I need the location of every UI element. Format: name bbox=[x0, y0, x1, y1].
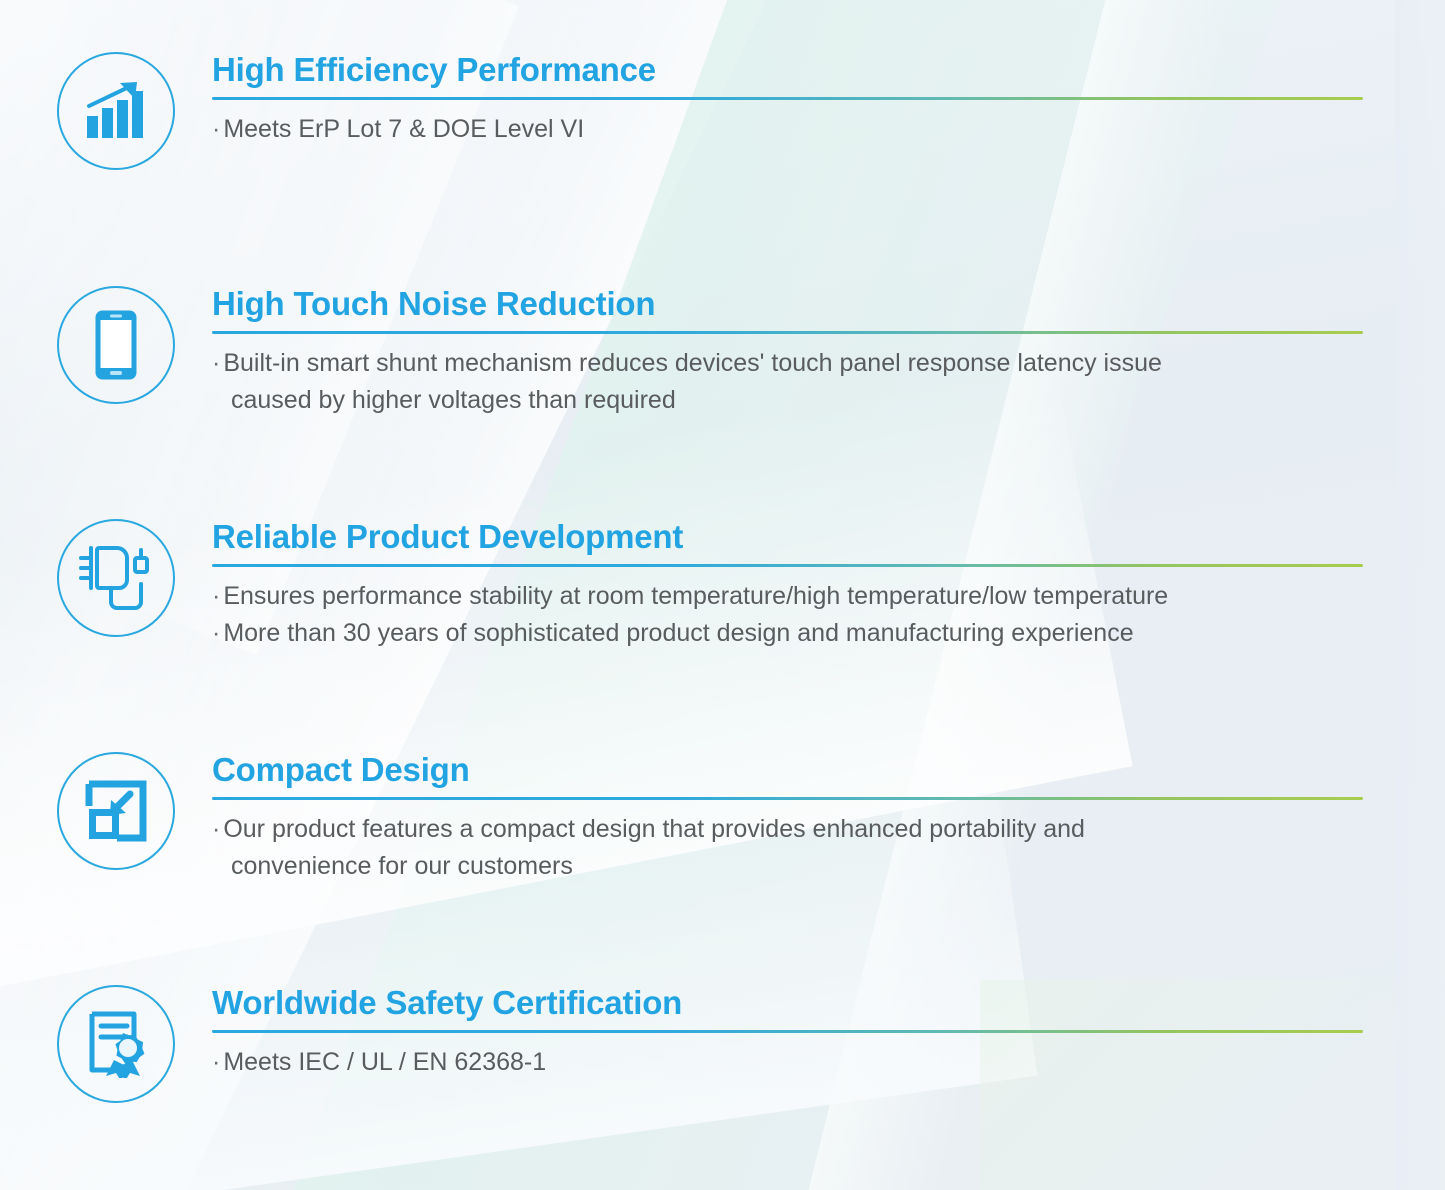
bullet-item: ·More than 30 years of sophisticated pro… bbox=[212, 615, 1445, 653]
bullet-text-continuation: caused by higher voltages than required bbox=[212, 382, 1445, 420]
title-divider bbox=[212, 564, 1363, 567]
title-divider bbox=[212, 1030, 1363, 1033]
feature-bullets: ·Meets ErP Lot 7 & DOE Level VI bbox=[212, 111, 1445, 149]
bullet-marker: · bbox=[212, 582, 220, 610]
feature-bullets: ·Our product features a compact design t… bbox=[212, 811, 1445, 886]
bg-lower-sweep-1 bbox=[0, 354, 1133, 1052]
bullet-text: Built-in smart shunt mechanism reduces d… bbox=[223, 349, 1162, 377]
feature-content: High Touch Noise Reduction ·Built-in sma… bbox=[212, 286, 1445, 420]
feature-content: Compact Design ·Our product features a c… bbox=[212, 752, 1445, 886]
feature-title: High Touch Noise Reduction bbox=[212, 286, 1445, 322]
bullet-text: Ensures performance stability at room te… bbox=[223, 582, 1168, 610]
bullet-item: ·Ensures performance stability at room t… bbox=[212, 578, 1445, 616]
bullet-marker: · bbox=[212, 115, 220, 143]
certificate-award-icon bbox=[57, 985, 175, 1103]
feature-content: Worldwide Safety Certification ·Meets IE… bbox=[212, 985, 1445, 1081]
bar-chart-growth-icon bbox=[57, 52, 175, 170]
feature-title: Worldwide Safety Certification bbox=[212, 985, 1445, 1021]
feature-title: Reliable Product Development bbox=[212, 519, 1445, 555]
feature-bullets: ·Meets IEC / UL / EN 62368-1 bbox=[212, 1044, 1445, 1082]
feature-bullets: ·Ensures performance stability at room t… bbox=[212, 578, 1445, 653]
feature-content: Reliable Product Development ·Ensures pe… bbox=[212, 519, 1445, 653]
shrink-resize-icon bbox=[57, 752, 175, 870]
bullet-marker: · bbox=[212, 349, 220, 377]
feature-title: High Efficiency Performance bbox=[212, 52, 1445, 88]
bullet-marker: · bbox=[212, 619, 220, 647]
power-adapter-icon bbox=[57, 519, 175, 637]
bullet-item: ·Meets ErP Lot 7 & DOE Level VI bbox=[212, 111, 1445, 149]
bullet-marker: · bbox=[212, 815, 220, 843]
bullet-text: Meets ErP Lot 7 & DOE Level VI bbox=[223, 115, 584, 143]
bullet-text: Our product features a compact design th… bbox=[223, 815, 1085, 843]
feature-title: Compact Design bbox=[212, 752, 1445, 788]
bullet-marker: · bbox=[212, 1048, 220, 1076]
title-divider bbox=[212, 331, 1363, 334]
bullet-text: More than 30 years of sophisticated prod… bbox=[223, 619, 1133, 647]
feature-highlights-page: High Efficiency Performance ·Meets ErP L… bbox=[0, 0, 1445, 1190]
bullet-text-continuation: convenience for our customers bbox=[212, 848, 1445, 886]
smartphone-icon bbox=[57, 286, 175, 404]
title-divider bbox=[212, 97, 1363, 100]
bullet-text: Meets IEC / UL / EN 62368-1 bbox=[223, 1048, 546, 1076]
bullet-item: ·Meets IEC / UL / EN 62368-1 bbox=[212, 1044, 1445, 1082]
bullet-item: ·Our product features a compact design t… bbox=[212, 811, 1445, 886]
feature-bullets: ·Built-in smart shunt mechanism reduces … bbox=[212, 345, 1445, 420]
title-divider bbox=[212, 797, 1363, 800]
feature-content: High Efficiency Performance ·Meets ErP L… bbox=[212, 52, 1445, 148]
bullet-item: ·Built-in smart shunt mechanism reduces … bbox=[212, 345, 1445, 420]
